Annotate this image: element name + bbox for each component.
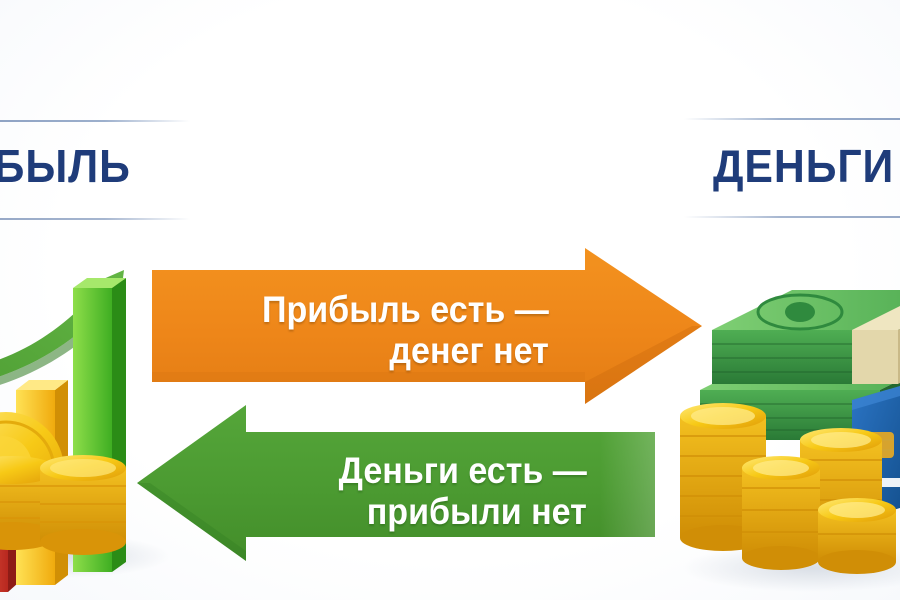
coin-stack-front <box>818 498 896 574</box>
arrow-right-orange-label: Прибыль есть — денег нет <box>190 289 549 372</box>
coin-stack-middle <box>742 456 820 570</box>
poster-canvas: ИБЫЛЬ ДЕНЬГИ <box>0 0 900 600</box>
banknote-stack-upper <box>712 290 900 384</box>
arrow-left-green-label: Деньги есть — прибыли нет <box>240 450 587 533</box>
